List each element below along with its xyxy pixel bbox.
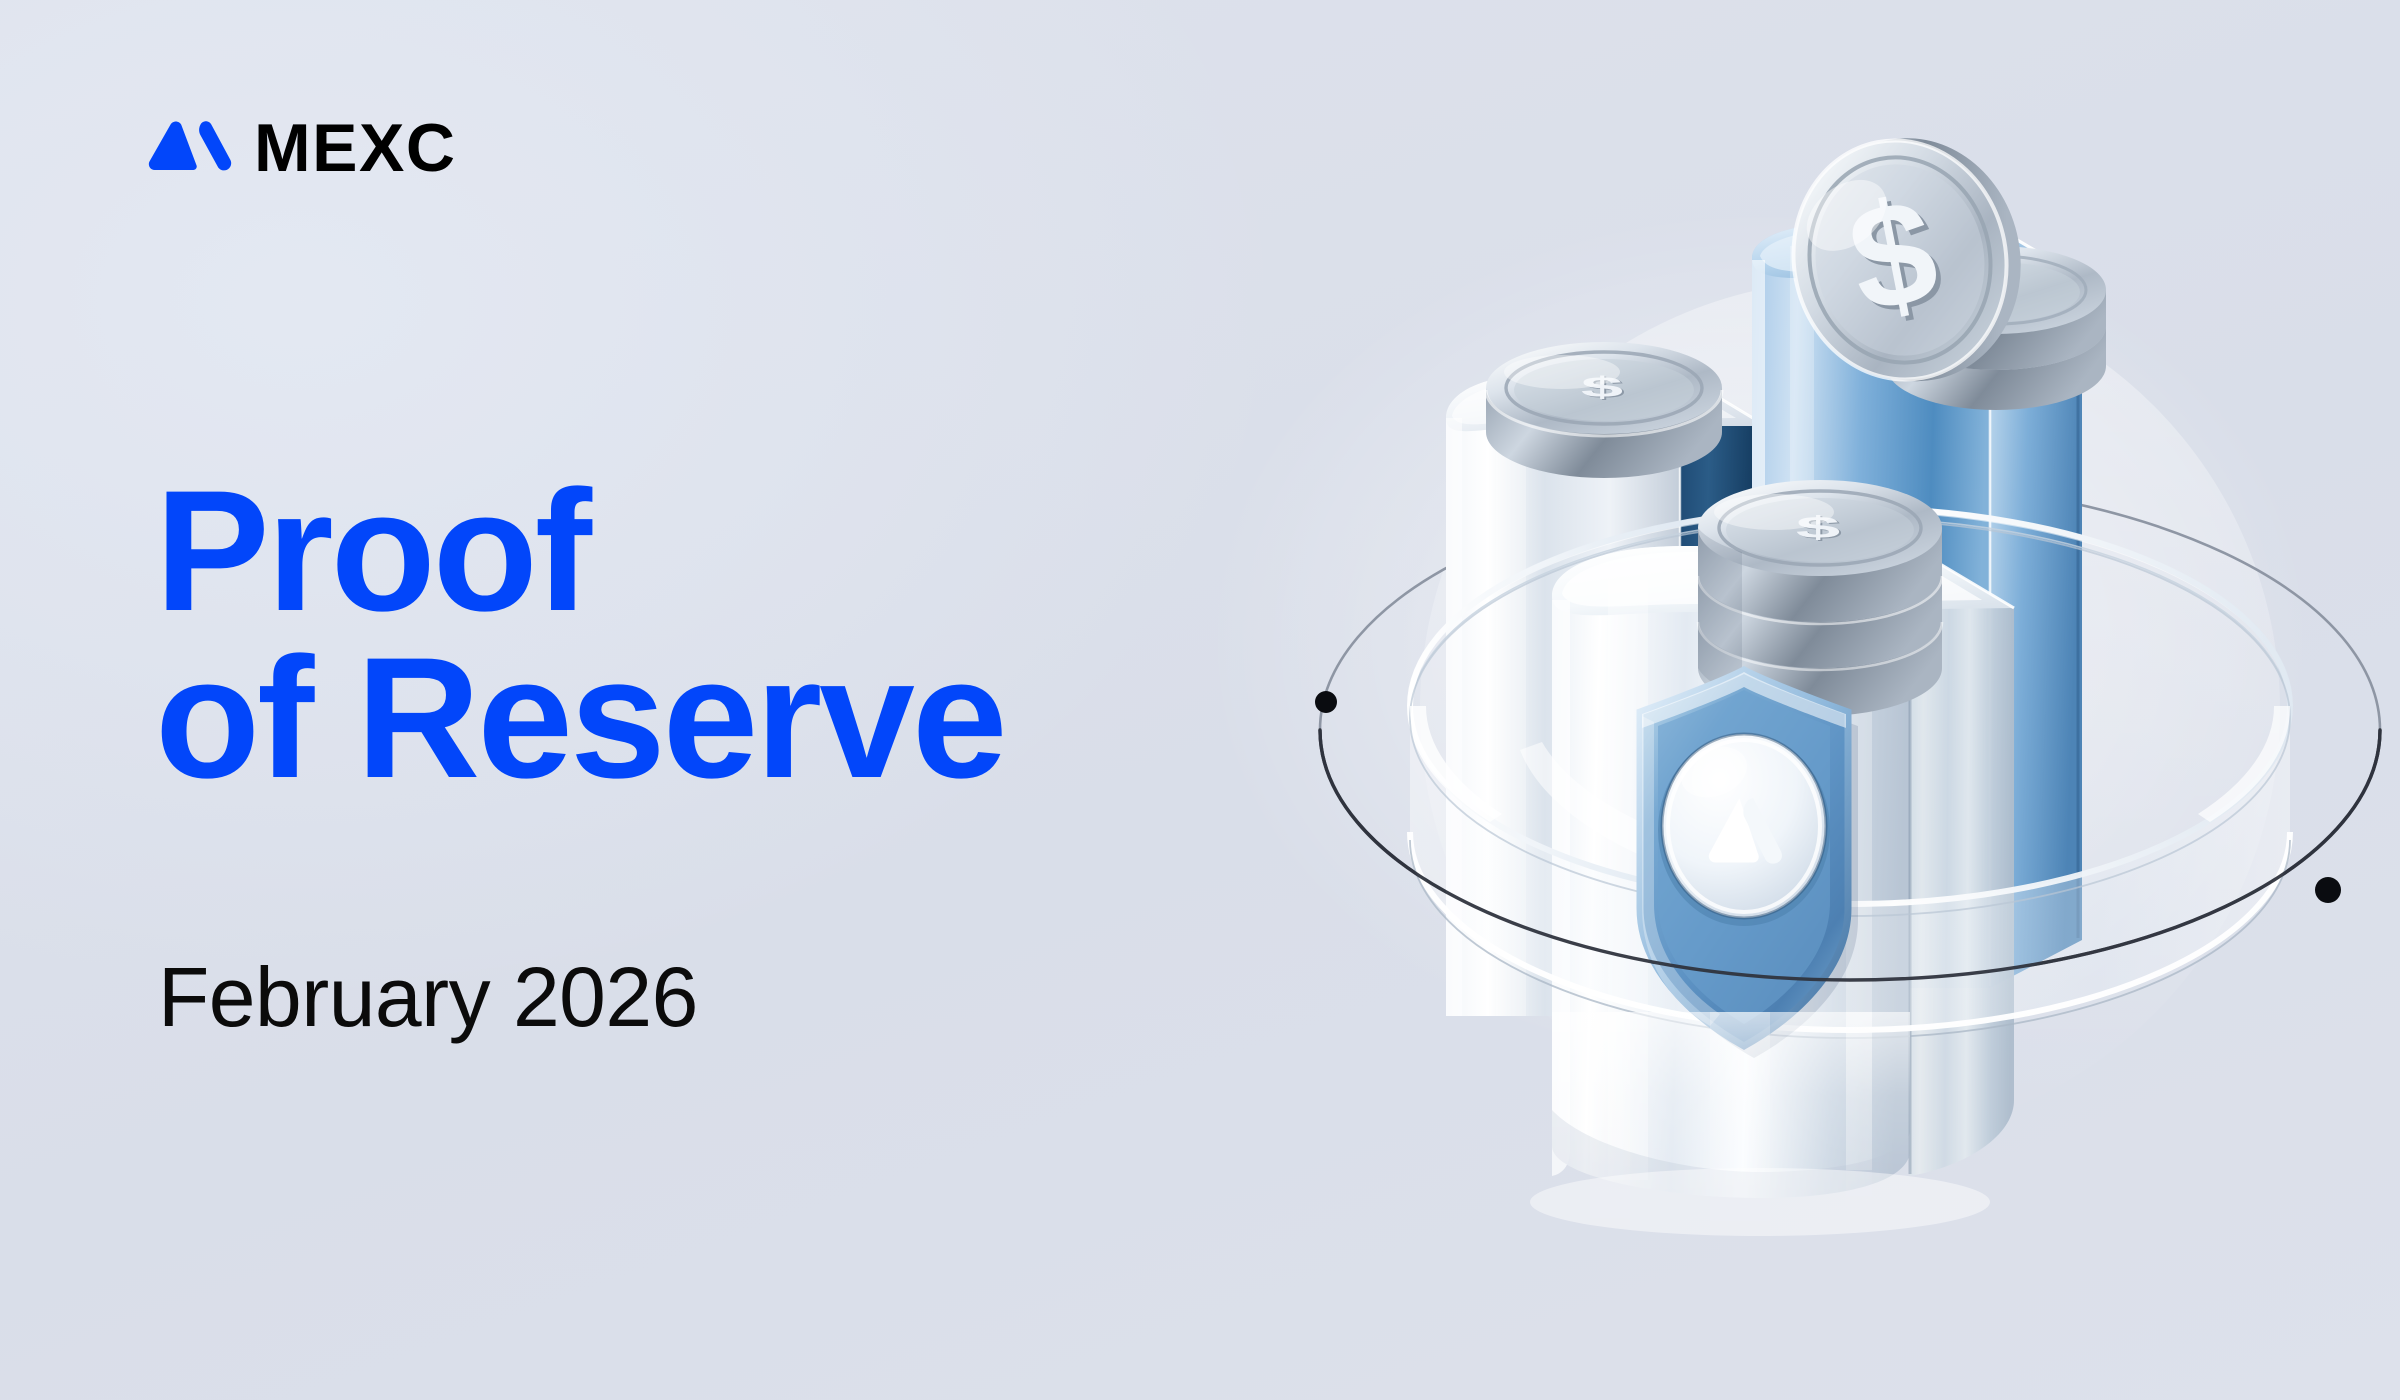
mexc-mountain-logo-icon xyxy=(148,119,232,177)
orbit-dot-left xyxy=(1315,691,1337,713)
orbit-dot-right xyxy=(2315,877,2341,903)
mexc-wordmark: MEXC xyxy=(254,114,456,182)
page-title: Proof of Reserve xyxy=(155,468,1335,802)
coin-stack-left-bar: $ $ xyxy=(1486,342,1722,478)
proof-of-reserve-illustration: $ $ $ $ $ $ xyxy=(1290,150,2400,1270)
headline-line-2: of Reserve xyxy=(155,635,1335,802)
report-period-subtitle: February 2026 xyxy=(158,955,698,1039)
mexc-logo[interactable]: MEXC xyxy=(148,114,456,182)
headline-line-1: Proof xyxy=(155,468,1335,635)
ground-soft-shadow xyxy=(1530,1168,1990,1236)
